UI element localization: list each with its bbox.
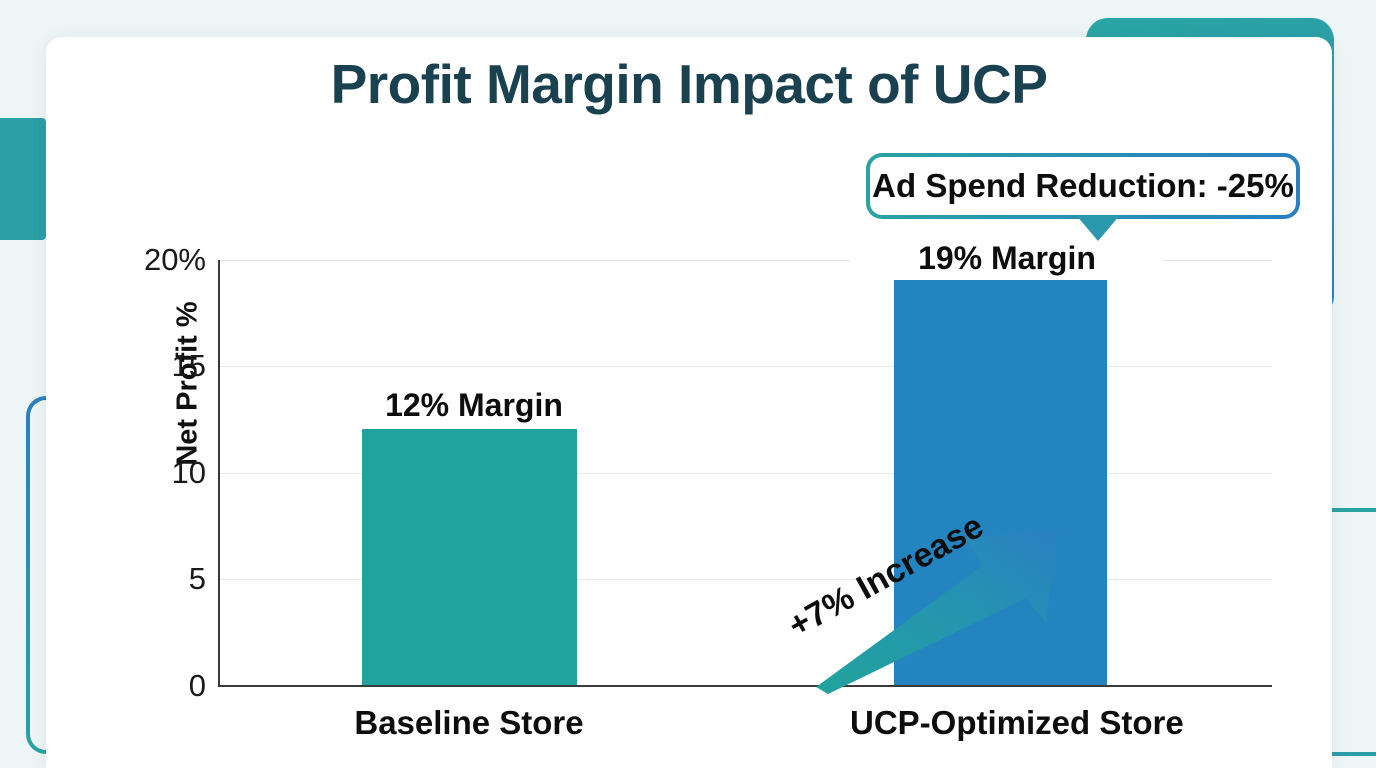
plot-area: 12% Margin 19% Margin Baseline Store UCP… — [218, 260, 1272, 686]
bar-baseline-store[interactable] — [362, 429, 577, 685]
bar-label-baseline: 12% Margin — [318, 387, 630, 424]
x-tick-ucp: UCP-Optimized Store — [850, 704, 1150, 742]
y-axis-ticks: 20% 15 10 5 0 — [66, 260, 206, 686]
bar-label-ucp: 19% Margin — [851, 240, 1163, 277]
x-axis-spine — [218, 685, 1272, 687]
y-tick-0: 0 — [189, 668, 206, 704]
y-tick-5: 5 — [189, 561, 206, 597]
callout-pointer-icon — [1076, 215, 1120, 241]
slide-canvas: Profit Margin Impact of UCP Net Profit %… — [0, 0, 1376, 768]
x-tick-baseline: Baseline Store — [319, 704, 619, 742]
y-tick-15: 15 — [172, 348, 206, 384]
chart-title: Profit Margin Impact of UCP — [46, 52, 1332, 116]
ad-spend-callout-label: Ad Spend Reduction: -25% — [872, 167, 1294, 205]
ad-spend-callout[interactable]: Ad Spend Reduction: -25% — [866, 153, 1300, 219]
y-tick-10: 10 — [172, 455, 206, 491]
y-tick-20: 20% — [144, 242, 206, 278]
bar-ucp-optimized-store[interactable] — [894, 280, 1107, 685]
chart-card: Profit Margin Impact of UCP Net Profit %… — [46, 37, 1332, 768]
gridline-15 — [218, 366, 1272, 367]
y-axis-spine — [218, 260, 220, 687]
decorative-square-left — [0, 118, 46, 240]
